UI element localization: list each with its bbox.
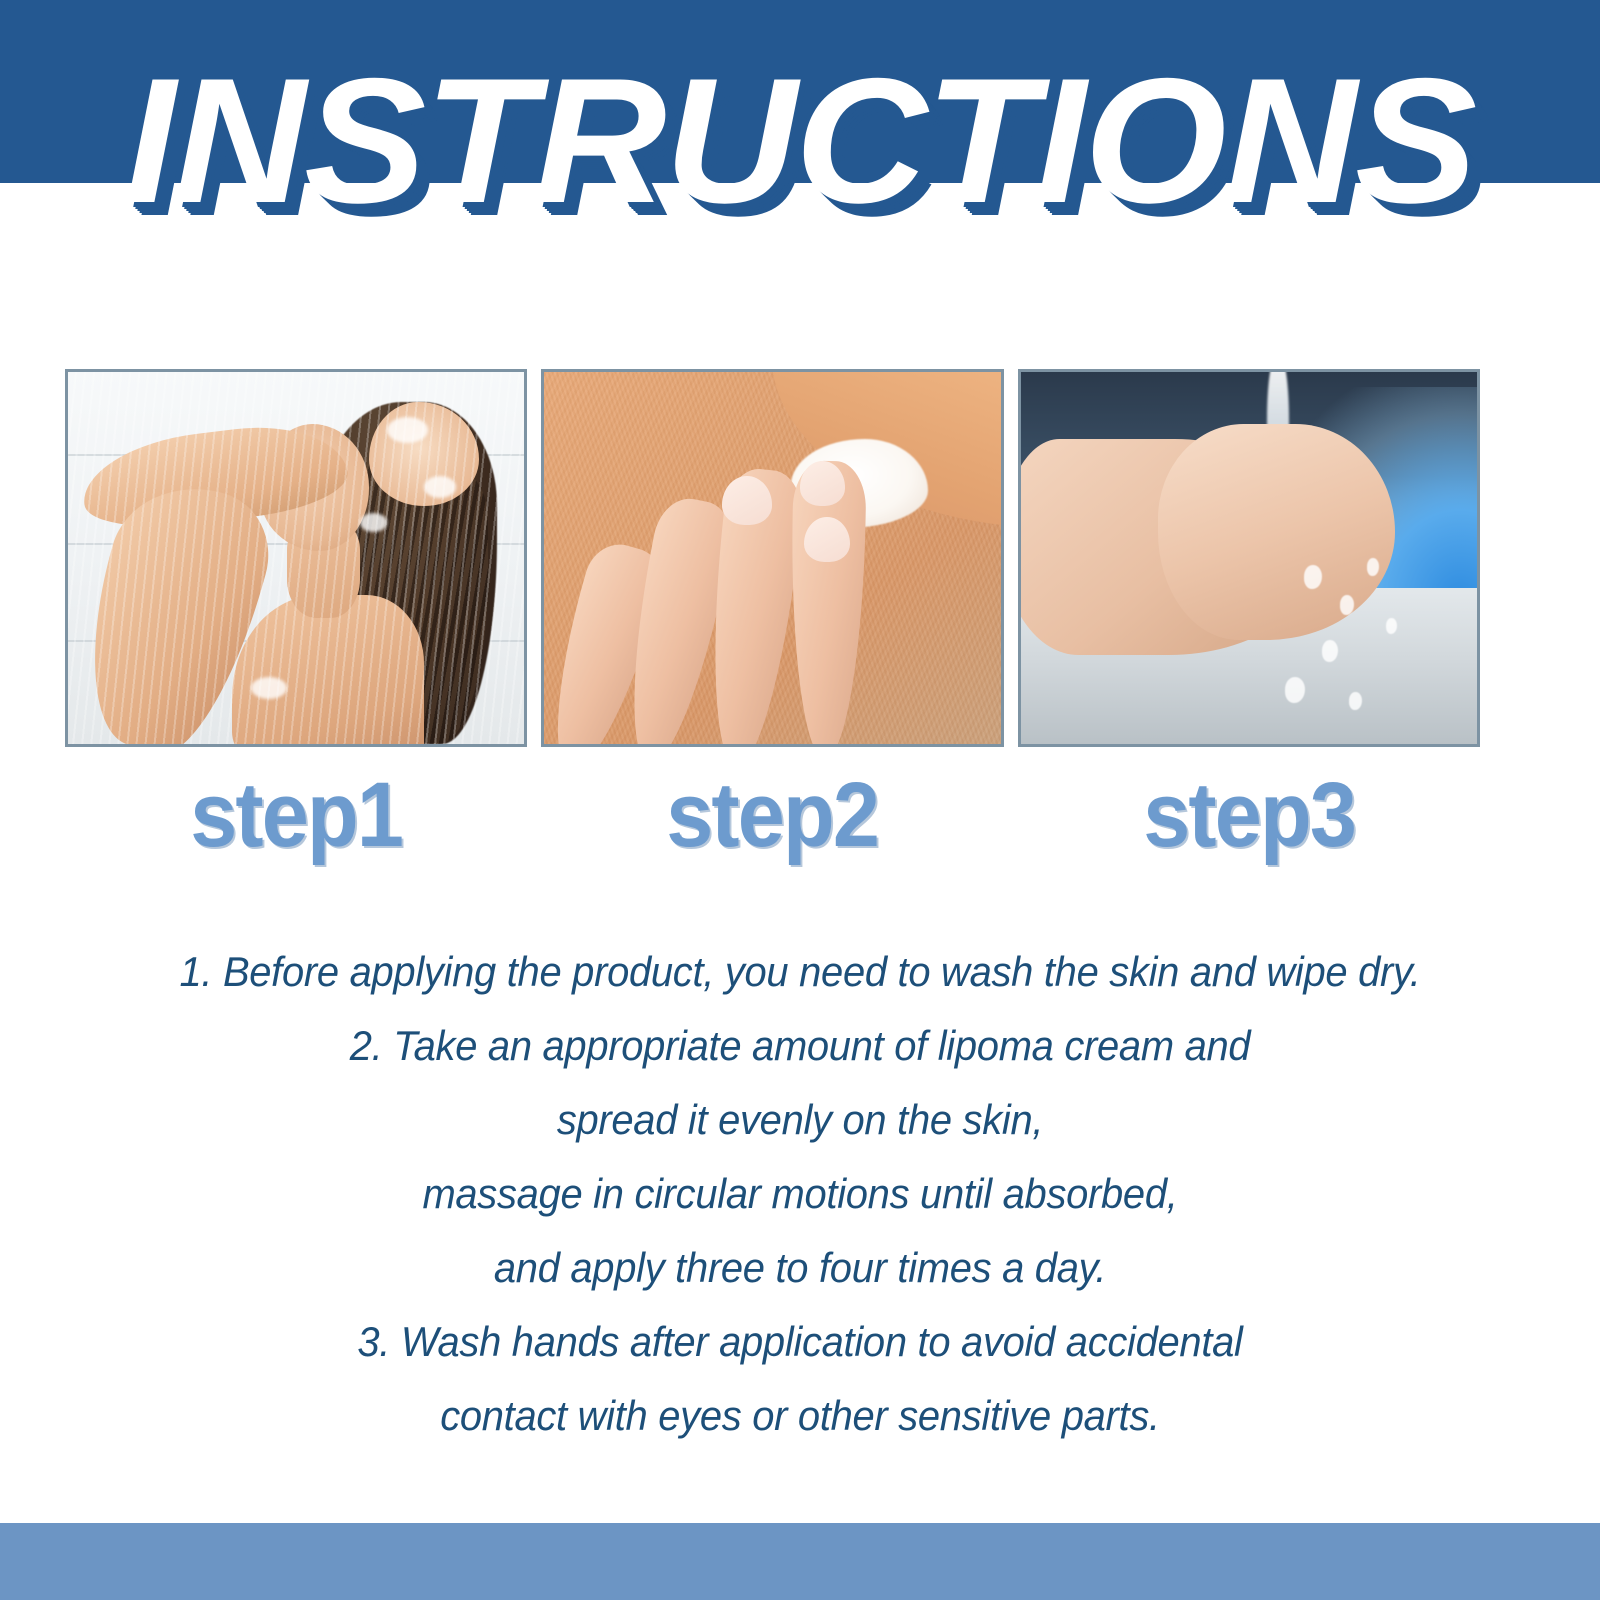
header-band	[0, 0, 1600, 183]
footer-band	[0, 1523, 1600, 1600]
step-labels-row: step1 step2 step3	[65, 762, 1480, 872]
step-image-3	[1018, 369, 1480, 747]
instructions-text: 1. Before applying the product, you need…	[100, 935, 1500, 1453]
step-image-1	[65, 369, 527, 747]
washing-hands-photo	[1021, 372, 1477, 744]
instruction-line: massage in circular motions until absorb…	[135, 1157, 1465, 1231]
step-label-1: step1	[83, 762, 508, 872]
woman-showering-photo	[68, 372, 524, 744]
applying-cream-photo	[544, 372, 1000, 744]
instructions-poster: INSTRUCTIONS	[0, 0, 1600, 1600]
instruction-line: contact with eyes or other sensitive par…	[135, 1379, 1465, 1453]
step-label-3: step3	[1036, 762, 1461, 872]
falling-water-overlay	[68, 372, 524, 744]
instruction-line: and apply three to four times a day.	[135, 1231, 1465, 1305]
instruction-line: 1. Before applying the product, you need…	[135, 935, 1465, 1009]
fingernail	[804, 517, 850, 562]
instruction-line: 2. Take an appropriate amount of lipoma …	[135, 1009, 1465, 1083]
instruction-line: spread it evenly on the skin,	[135, 1083, 1465, 1157]
step-label-2: step2	[560, 762, 985, 872]
step-images-strip	[65, 369, 1480, 747]
step-image-2	[541, 369, 1003, 747]
instruction-line: 3. Wash hands after application to avoid…	[135, 1305, 1465, 1379]
water-droplet	[1386, 618, 1397, 634]
water-droplet	[1322, 640, 1338, 662]
